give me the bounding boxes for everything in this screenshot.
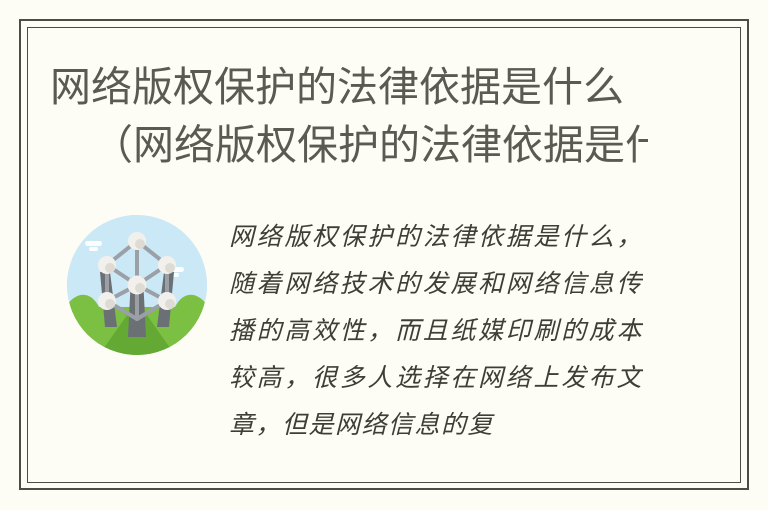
- page-title-line-1: 网络版权保护的法律依据是什么: [48, 58, 648, 116]
- atomium-monument-illustration-icon: [67, 215, 207, 355]
- page-title-line-2: （网络版权保护的法律依据是什: [48, 116, 648, 174]
- article-body: 网络版权保护的法律依据是什么，随着网络技术的发展和网络信息传播的高效性，而且纸媒…: [229, 214, 643, 466]
- page-root: 网络版权保护的法律依据是什么 （网络版权保护的法律依据是什: [0, 0, 768, 510]
- article-body-text: 网络版权保护的法律依据是什么，随着网络技术的发展和网络信息传播的高效性，而且纸媒…: [229, 214, 643, 449]
- page-title: 网络版权保护的法律依据是什么 （网络版权保护的法律依据是什: [48, 58, 648, 178]
